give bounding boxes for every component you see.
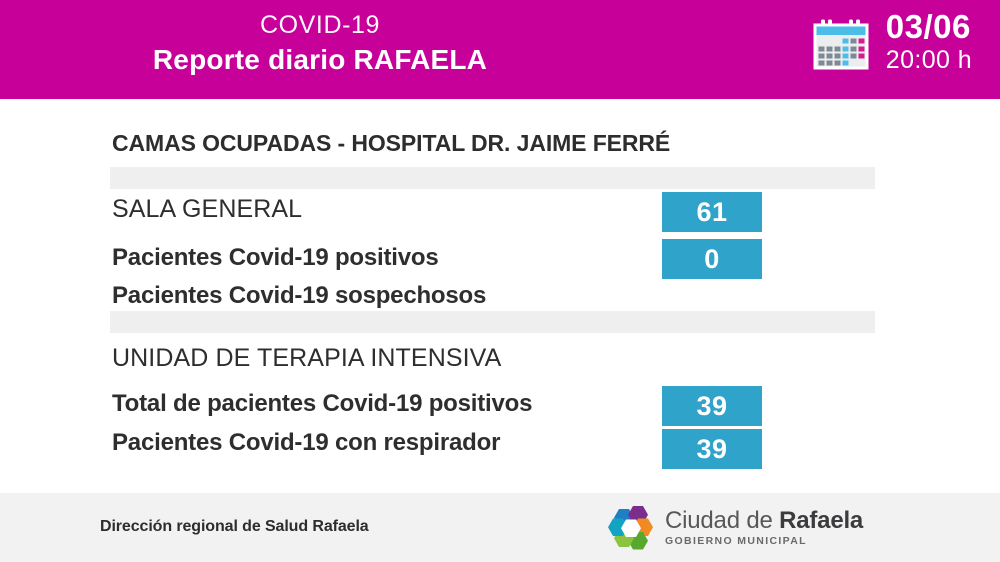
covid-daily-report-poster: COVID-19 Reporte diario RAFAELA [0,0,1000,562]
row-label: Pacientes Covid-19 positivos [112,244,439,272]
row-label: UNIDAD DE TERAPIA INTENSIVA [112,344,501,373]
header-date-group: 03/06 20:00 h [812,9,972,75]
row-label: Pacientes Covid-19 sospechosos [112,282,486,310]
city-logo: Ciudad de Rafaela GOBIERNO MUNICIPAL [607,505,863,551]
logo-line2: GOBIERNO MUNICIPAL [665,536,863,547]
logo-line1-bold: Rafaela [779,507,863,534]
row-value-badge: 61 [662,192,762,232]
row-label: SALA GENERAL [112,195,302,224]
header-title-group: COVID-19 Reporte diario RAFAELA [0,10,640,78]
report-time: 20:00 h [886,45,972,75]
row-value-badge: 39 [662,429,762,469]
header-eyebrow: COVID-19 [0,10,640,40]
page-title: Reporte diario RAFAELA [0,42,640,78]
row-value-badge: 39 [662,386,762,426]
footer-credit: Dirección regional de Salud Rafaela [100,518,369,536]
row-value-badge: 0 [662,239,762,279]
report-date: 03/06 [886,9,972,45]
report-datetime: 03/06 20:00 h [886,9,972,75]
city-logo-text: Ciudad de Rafaela GOBIERNO MUNICIPAL [665,509,863,547]
logo-line1-light: Ciudad de [665,507,779,534]
row-label: Pacientes Covid-19 con respirador [112,429,500,457]
row-label: Total de pacientes Covid-19 positivos [112,390,532,418]
section-divider-band-middle [110,311,875,333]
section-divider-band-top [110,167,875,189]
hexagon-logo-icon [607,505,655,551]
calendar-icon [812,17,870,75]
footer-bar: Dirección regional de Salud Rafaela [0,493,1000,562]
section-title: CAMAS OCUPADAS - HOSPITAL DR. JAIME FERR… [112,130,670,157]
report-body: CAMAS OCUPADAS - HOSPITAL DR. JAIME FERR… [0,99,1000,493]
header-banner: COVID-19 Reporte diario RAFAELA [0,0,1000,99]
